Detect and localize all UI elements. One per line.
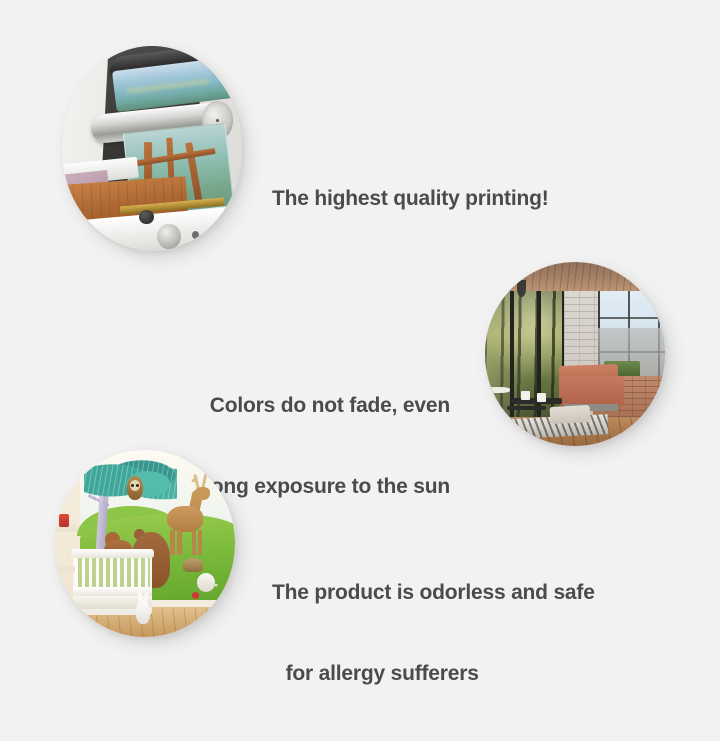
large-format-printer-laminator-photo [62, 46, 242, 251]
mural-deer-leg [198, 530, 202, 554]
cup [537, 393, 546, 402]
feature-text-odorless-line-2: for allergy sufferers [272, 660, 595, 687]
mural-deer-leg [177, 530, 181, 554]
mural-deer-leg [170, 530, 174, 554]
mural-deer-body [167, 506, 203, 532]
printer-photo-content [62, 46, 242, 251]
feature-text-printing-line-1: The highest quality printing! [272, 185, 549, 212]
feature-text-printing: The highest quality printing! [272, 131, 549, 266]
living-room-photo-content [485, 262, 665, 446]
side-coffee-table [507, 406, 547, 411]
toy-bunny [136, 600, 150, 624]
living-room-forest-mural-photo [485, 262, 665, 446]
printer-bolt [192, 231, 199, 239]
ottoman [549, 404, 589, 423]
feature-text-fade-line-1: Colors do not fade, even [120, 392, 450, 419]
mural-ladybug [192, 592, 199, 599]
feature-text-odorless: The product is odorless and safe for all… [272, 525, 595, 741]
mural-owl-eye [131, 484, 134, 487]
shelf-toy [59, 514, 70, 527]
nursery-animal-mural-photo [55, 450, 235, 637]
mural-owl-eye [136, 484, 139, 487]
printer-wheel [157, 224, 180, 249]
feature-text-odorless-line-1: The product is odorless and safe [272, 579, 595, 606]
mural-deer-head [194, 487, 210, 500]
mural-hedgehog [183, 558, 203, 571]
printer-knob [139, 210, 153, 224]
leather-sofa-seat [559, 376, 624, 405]
wall-shelf [55, 566, 75, 573]
round-side-table [485, 387, 510, 393]
mural-tree-canopy-front [116, 465, 181, 502]
mural-deer-leg [192, 530, 196, 554]
cup [521, 391, 530, 400]
promo-canvas: The highest quality printing! Colors do … [0, 0, 720, 720]
wood-ceiling [485, 262, 665, 291]
crib-top-rail [71, 549, 154, 558]
nursery-photo-content [55, 450, 235, 637]
